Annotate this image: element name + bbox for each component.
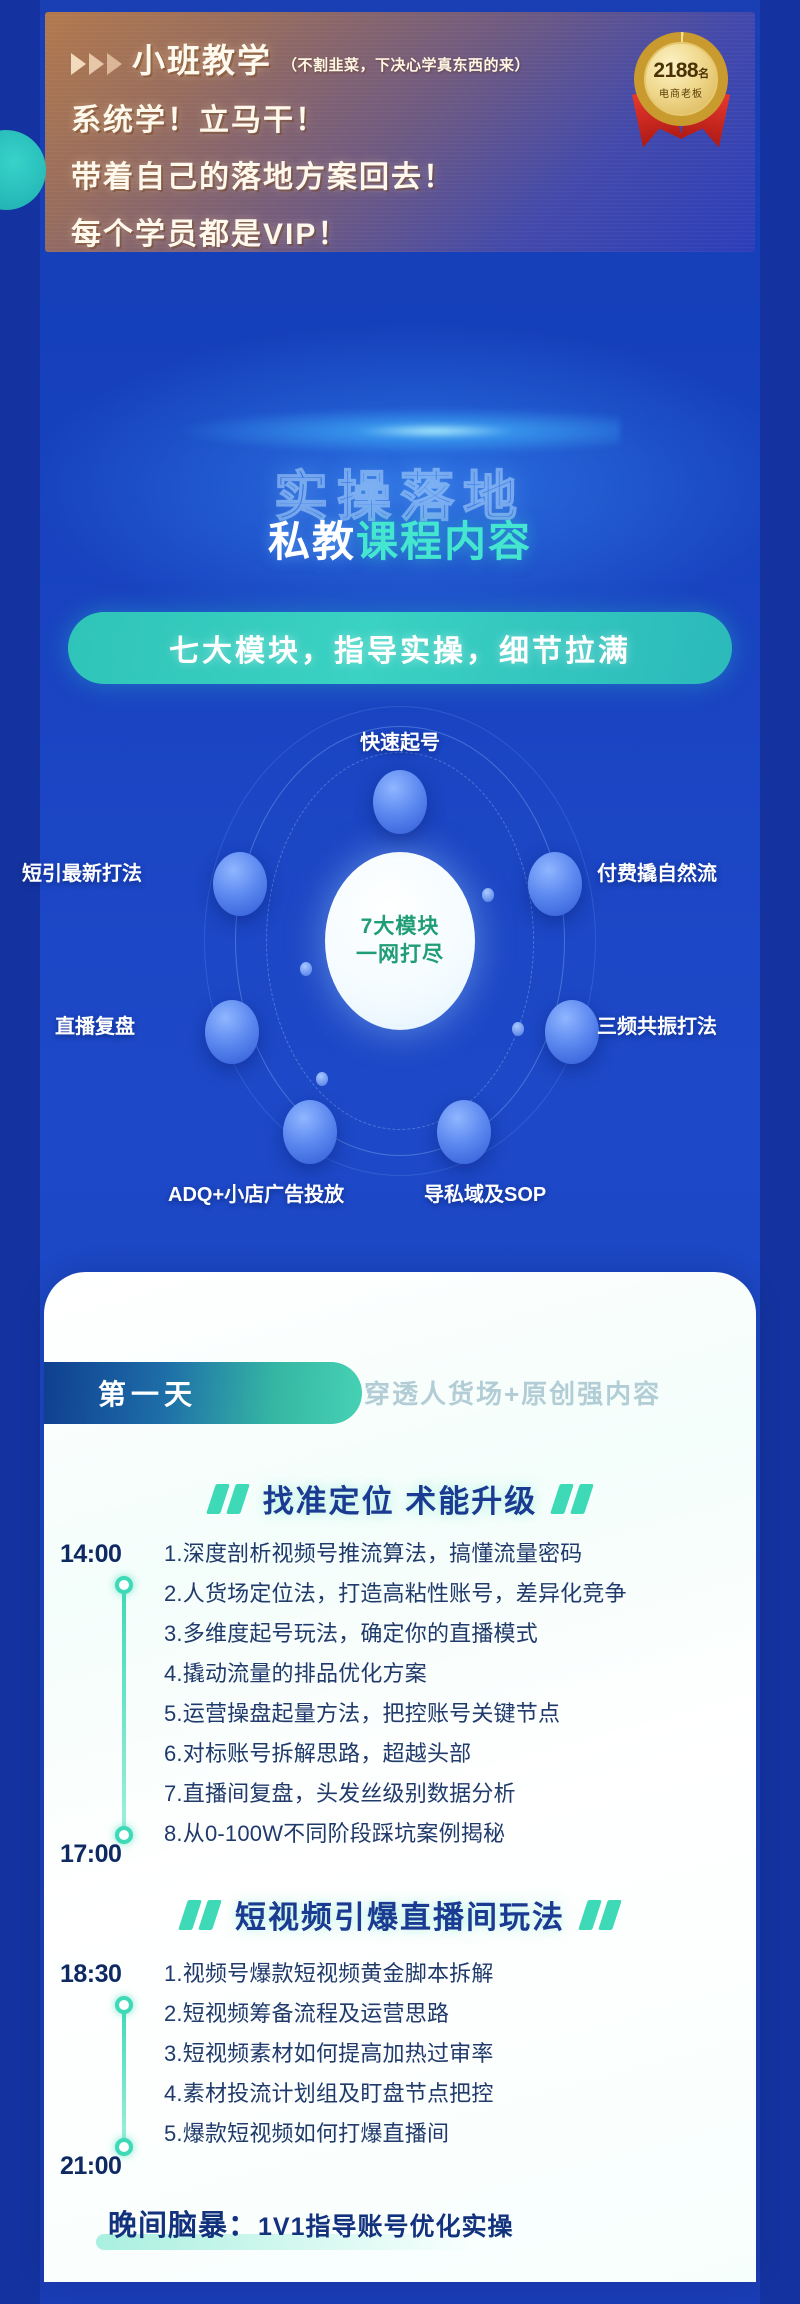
hero-line-4: 每个学员都是VIP！ xyxy=(71,209,729,252)
core-line-2: 一网打尽 xyxy=(356,941,444,969)
block-heading-label-1: 短视频引爆直播间玩法 xyxy=(235,1892,565,1937)
diagram-dot-d xyxy=(512,1022,524,1036)
module-node-1 xyxy=(528,852,582,916)
start-time-0: 14:00 xyxy=(60,1540,121,1569)
medal-icon: 2188名 电商老板 xyxy=(634,32,728,126)
list-item: 1.深度剖析视频号推流算法，搞懂流量密码 xyxy=(164,1534,627,1574)
module-label-5: 直播复盘 xyxy=(55,1010,135,1039)
modules-diagram: 7大模块 一网打尽 快速起号 付费撬自然流 三频共振打法 导私域及SOP ADQ… xyxy=(0,700,800,1220)
module-label-4: ADQ+小店广告投放 xyxy=(168,1178,344,1207)
module-label-6: 短引最新打法 xyxy=(22,857,142,886)
section-title-cyan: 课程内容 xyxy=(356,518,532,565)
module-label-3: 导私域及SOP xyxy=(424,1178,546,1207)
list-item: 1.视频号爆款短视频黄金脚本拆解 xyxy=(164,1954,494,1994)
timeline-bar-1 xyxy=(122,2004,126,2146)
list-item: 2.人货场定位法，打造高粘性账号，差异化竞争 xyxy=(164,1574,627,1614)
block-heading-1: 短视频引爆直播间玩法 xyxy=(44,1892,756,1937)
module-label-0: 快速起号 xyxy=(360,726,440,755)
timeline-1: 18:30 21:00 1.视频号爆款短视频黄金脚本拆解 2.短视频筹备流程及运… xyxy=(60,1960,740,2180)
list-item: 8.从0-100W不同阶段踩坑案例揭秘 xyxy=(164,1814,627,1854)
list-item: 5.爆款短视频如何打爆直播间 xyxy=(164,2114,494,2154)
hero-line-3: 带着自己的落地方案回去！ xyxy=(71,152,729,196)
section-title: 私教课程内容 xyxy=(0,508,800,569)
footer-label: 晚间脑暴： xyxy=(108,2210,258,2242)
day-tab-label: 第一天 xyxy=(98,1373,197,1413)
schedule-card: 第一天 穿透人货场+原创强内容 找准定位 术能升级 14:00 17:00 1.… xyxy=(44,1272,756,2282)
block-heading-label-0: 找准定位 术能升级 xyxy=(263,1476,538,1521)
timeline-bar-0 xyxy=(122,1584,126,1834)
list-item: 4.撬动流量的排品优化方案 xyxy=(164,1654,627,1694)
footer-text: 1V1指导账号优化实操 xyxy=(258,2213,513,2241)
module-node-4 xyxy=(283,1100,337,1164)
section-title-white: 私教 xyxy=(268,518,356,565)
module-label-2: 三频共振打法 xyxy=(597,1010,717,1039)
module-node-2 xyxy=(545,1000,599,1064)
day-tab: 第一天 xyxy=(44,1362,362,1424)
items-list-1: 1.视频号爆款短视频黄金脚本拆解 2.短视频筹备流程及运营思路 3.短视频素材如… xyxy=(164,1954,494,2154)
quote-mark-right-icon xyxy=(555,1484,589,1514)
triple-play-arrow-icon xyxy=(71,53,122,82)
section-pill-label: 七大模块，指导实操，细节拉满 xyxy=(169,626,631,670)
core-line-1: 7大模块 xyxy=(361,913,440,941)
list-item: 5.运营操盘起量方法，把控账号关键节点 xyxy=(164,1694,627,1734)
items-list-0: 1.深度剖析视频号推流算法，搞懂流量密码 2.人货场定位法，打造高粘性账号，差异… xyxy=(164,1534,627,1854)
quote-mark-left-icon xyxy=(183,1900,217,1930)
list-item: 4.素材投流计划组及盯盘节点把控 xyxy=(164,2074,494,2114)
diagram-dot-c xyxy=(316,1072,328,1086)
block-heading-0: 找准定位 术能升级 xyxy=(44,1476,756,1521)
diagram-dot-a xyxy=(300,962,312,976)
end-time-0: 17:00 xyxy=(60,1840,121,1869)
timeline-0: 14:00 17:00 1.深度剖析视频号推流算法，搞懂流量密码 2.人货场定位… xyxy=(60,1540,740,1860)
list-item: 3.多维度起号玩法，确定你的直播模式 xyxy=(164,1614,627,1654)
list-item: 3.短视频素材如何提高加热过审率 xyxy=(164,2034,494,2074)
module-node-3 xyxy=(437,1100,491,1164)
hero-banner: 小班教学 （不割韭菜，下决心学真东西的来） 系统学！立马干！ 带着自己的落地方案… xyxy=(45,12,755,252)
list-item: 2.短视频筹备流程及运营思路 xyxy=(164,1994,494,2034)
light-flare-decoration xyxy=(180,408,620,454)
diagram-core: 7大模块 一网打尽 xyxy=(325,852,475,1030)
module-label-1: 付费撬自然流 xyxy=(597,857,717,886)
start-time-1: 18:30 xyxy=(60,1960,121,1989)
medal-badge: 2188名 电商老板 xyxy=(629,28,733,148)
module-node-6 xyxy=(213,852,267,916)
quote-mark-left-icon xyxy=(211,1484,245,1514)
list-item: 7.直播间复盘，头发丝级别数据分析 xyxy=(164,1774,627,1814)
hero-title: 小班教学 xyxy=(132,34,272,82)
module-node-5 xyxy=(205,1000,259,1064)
diagram-dot-b xyxy=(482,888,494,902)
section-pill: 七大模块，指导实操，细节拉满 xyxy=(68,612,732,684)
end-time-1: 21:00 xyxy=(60,2152,121,2181)
timeline-knob-start-1 xyxy=(115,1996,133,2014)
badge-number: 2188名 xyxy=(653,59,708,83)
module-node-0 xyxy=(373,770,427,834)
list-item: 6.对标账号拆解思路，超越头部 xyxy=(164,1734,627,1774)
hero-note: （不割韭菜，下决心学真东西的来） xyxy=(282,54,530,82)
timeline-knob-start-0 xyxy=(115,1576,133,1594)
day-subtitle: 穿透人货场+原创强内容 xyxy=(364,1374,661,1411)
footer-note: 晚间脑暴：1V1指导账号优化实操 xyxy=(108,2202,514,2244)
quote-mark-right-icon xyxy=(583,1900,617,1930)
badge-caption: 电商老板 xyxy=(659,85,703,100)
